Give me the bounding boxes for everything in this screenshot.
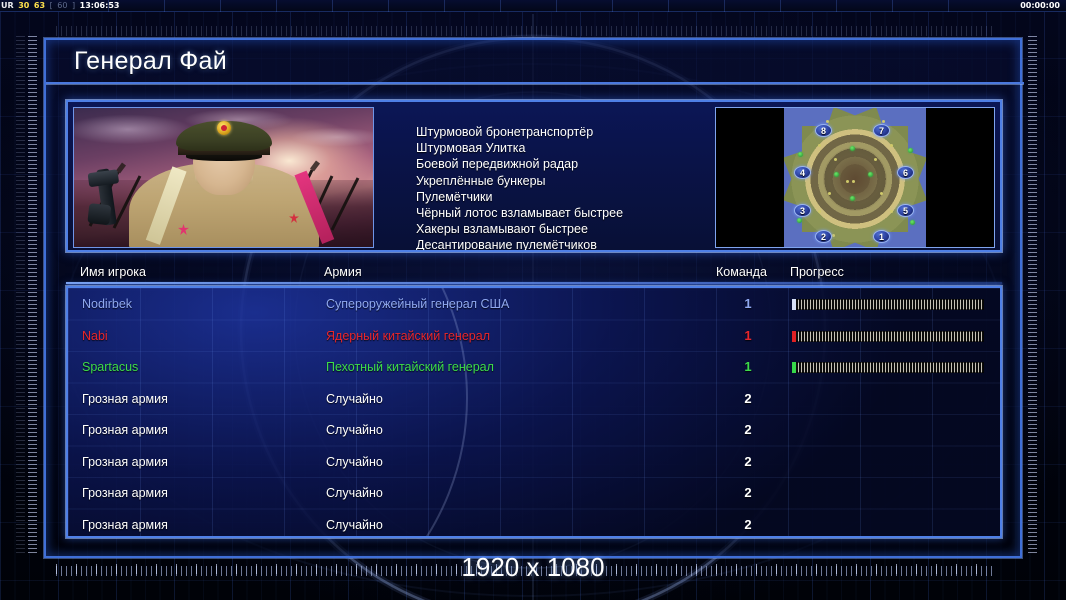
row-army[interactable]: Случайно: [326, 392, 383, 406]
row-team[interactable]: 2: [739, 422, 757, 437]
ruler-left-outer: [16, 36, 25, 556]
ruler-top: [56, 26, 996, 36]
bonus-item: Штурмовой бронетранспортёр: [416, 124, 716, 140]
row-team[interactable]: 2: [739, 454, 757, 469]
status-bracket-open: [: [49, 0, 54, 12]
row-player-name[interactable]: Грозная армия: [82, 423, 168, 437]
minimap-start-position-7[interactable]: 7: [873, 124, 890, 137]
bonus-item: Хакеры взламывают быстрее: [416, 221, 716, 237]
minimap-tree: [908, 148, 913, 153]
minimap-prop: [882, 120, 885, 123]
minimap-container[interactable]: 8 7 4 6 3 5 2 1: [715, 107, 995, 248]
minimap-prop: [834, 158, 837, 161]
debug-status-bar: UR 30 63 [ 60 ] 13:06:53 00:00:00: [0, 0, 1066, 12]
table-row[interactable]: Грозная армия Случайно 2: [68, 385, 1002, 417]
row-player-name[interactable]: Spartacus: [82, 360, 138, 374]
bonus-item: Штурмовая Улитка: [416, 140, 716, 156]
portrait-cap-badge: [217, 121, 231, 135]
minimap-start-position-8[interactable]: 8: [815, 124, 832, 137]
bonus-item: Чёрный лотос взламывает быстрее: [416, 205, 716, 221]
column-header-progress: Прогресс: [790, 265, 844, 279]
minimap-prop: [890, 210, 893, 213]
row-team[interactable]: 1: [739, 296, 757, 311]
minimap-start-position-6[interactable]: 6: [897, 166, 914, 179]
row-army[interactable]: Ядерный китайский генерал: [326, 329, 490, 343]
minimap-tree: [868, 172, 873, 177]
minimap-prop: [852, 180, 855, 183]
row-army[interactable]: Пехотный китайский генерал: [326, 360, 494, 374]
bonus-item: Десантирование пулемётчиков: [416, 237, 716, 252]
row-player-name[interactable]: Грозная армия: [82, 486, 168, 500]
minimap-preview[interactable]: 8 7 4 6 3 5 2 1: [784, 108, 926, 248]
general-bonus-list: Штурмовой бронетранспортёр Штурмовая Ули…: [416, 124, 716, 252]
status-bar-cells: [108, 0, 976, 12]
row-player-name[interactable]: Nodirbek: [82, 297, 132, 311]
row-player-name[interactable]: Грозная армия: [82, 518, 168, 532]
status-bracket-close: ]: [71, 0, 76, 12]
status-label: UR: [0, 0, 15, 12]
row-army[interactable]: Случайно: [326, 423, 383, 437]
minimap-start-position-1[interactable]: 1: [873, 230, 890, 243]
minimap-tree: [798, 152, 803, 157]
row-team[interactable]: 1: [739, 359, 757, 374]
progress-cap: [792, 362, 796, 373]
row-army[interactable]: Случайно: [326, 455, 383, 469]
bonus-item: Укреплённые бункеры: [416, 173, 716, 189]
status-bracket-value: 60: [56, 0, 68, 12]
row-army[interactable]: Случайно: [326, 518, 383, 532]
column-header-team: Команда: [716, 265, 767, 279]
minimap-start-position-2[interactable]: 2: [815, 230, 832, 243]
page-title: Генерал Фай: [74, 47, 227, 76]
session-clock: 00:00:00: [1020, 0, 1060, 12]
table-row[interactable]: Nabi Ядерный китайский генерал 1: [68, 322, 1002, 354]
game-lobby-screen: UR 30 63 [ 60 ] 13:06:53 00:00:00 Генера…: [0, 0, 1066, 600]
minimap-prop: [846, 180, 849, 183]
minimap-tree: [850, 196, 855, 201]
minimap-prop: [828, 192, 831, 195]
row-team[interactable]: 2: [739, 391, 757, 406]
ruler-right: [1028, 36, 1037, 556]
progress-cap: [792, 299, 796, 310]
table-row[interactable]: Nodirbek Супероружейный генерал США 1: [68, 290, 1002, 322]
minimap-prop: [890, 144, 893, 147]
row-team[interactable]: 2: [739, 485, 757, 500]
window-titlebar: Генерал Фай: [46, 40, 1024, 84]
ruler-left: [28, 36, 37, 556]
general-fai-portrait: [73, 107, 374, 248]
header-divider: [66, 282, 1002, 284]
minimap-tree: [910, 220, 915, 225]
table-row[interactable]: Грозная армия Случайно 2: [68, 479, 1002, 511]
row-player-name[interactable]: Грозная армия: [82, 392, 168, 406]
minimap-center: [823, 147, 887, 211]
player-table-body: Nodirbek Супероружейный генерал США 1 Na…: [66, 286, 1002, 538]
bonus-item: Пулемётчики: [416, 189, 716, 205]
status-value-2: 63: [33, 0, 46, 12]
lobby-window: Генерал Фай: [44, 38, 1022, 558]
minimap-start-position-5[interactable]: 5: [897, 204, 914, 217]
row-army[interactable]: Супероружейный генерал США: [326, 297, 509, 311]
resolution-label: 1920 x 1080: [0, 552, 1066, 583]
column-header-player: Имя игрока: [80, 265, 146, 279]
general-info-panel: Штурмовой бронетранспортёр Штурмовая Ули…: [66, 100, 1002, 252]
minimap-prop: [818, 210, 821, 213]
minimap-prop: [826, 120, 829, 123]
table-row[interactable]: Грозная армия Случайно 2: [68, 448, 1002, 480]
minimap-prop: [874, 158, 877, 161]
minimap-prop: [832, 234, 835, 237]
bonus-item: Боевой передвижной радар: [416, 156, 716, 172]
minimap-tree: [850, 146, 855, 151]
row-team[interactable]: 1: [739, 328, 757, 343]
minimap-prop: [818, 144, 821, 147]
table-row[interactable]: Грозная армия Случайно 2: [68, 416, 1002, 448]
table-row[interactable]: Spartacus Пехотный китайский генерал 1: [68, 353, 1002, 385]
minimap-tree: [834, 172, 839, 177]
progress-cap: [792, 331, 796, 342]
row-army[interactable]: Случайно: [326, 486, 383, 500]
minimap-start-position-3[interactable]: 3: [794, 204, 811, 217]
row-player-name[interactable]: Грозная армия: [82, 455, 168, 469]
minimap-tree: [797, 218, 802, 223]
row-progress-bar: [792, 331, 984, 342]
player-table-header: Имя игрока Армия Команда Прогресс: [66, 262, 1002, 284]
minimap-prop: [880, 192, 883, 195]
table-row[interactable]: Грозная армия Случайно 2: [68, 511, 1002, 539]
row-progress-bar: [792, 362, 984, 373]
row-team[interactable]: 2: [739, 517, 757, 532]
row-progress-bar: [792, 299, 984, 310]
status-value-1: 30: [17, 0, 30, 12]
column-header-army: Армия: [324, 265, 362, 279]
row-player-name[interactable]: Nabi: [82, 329, 108, 343]
minimap-start-position-4[interactable]: 4: [794, 166, 811, 179]
